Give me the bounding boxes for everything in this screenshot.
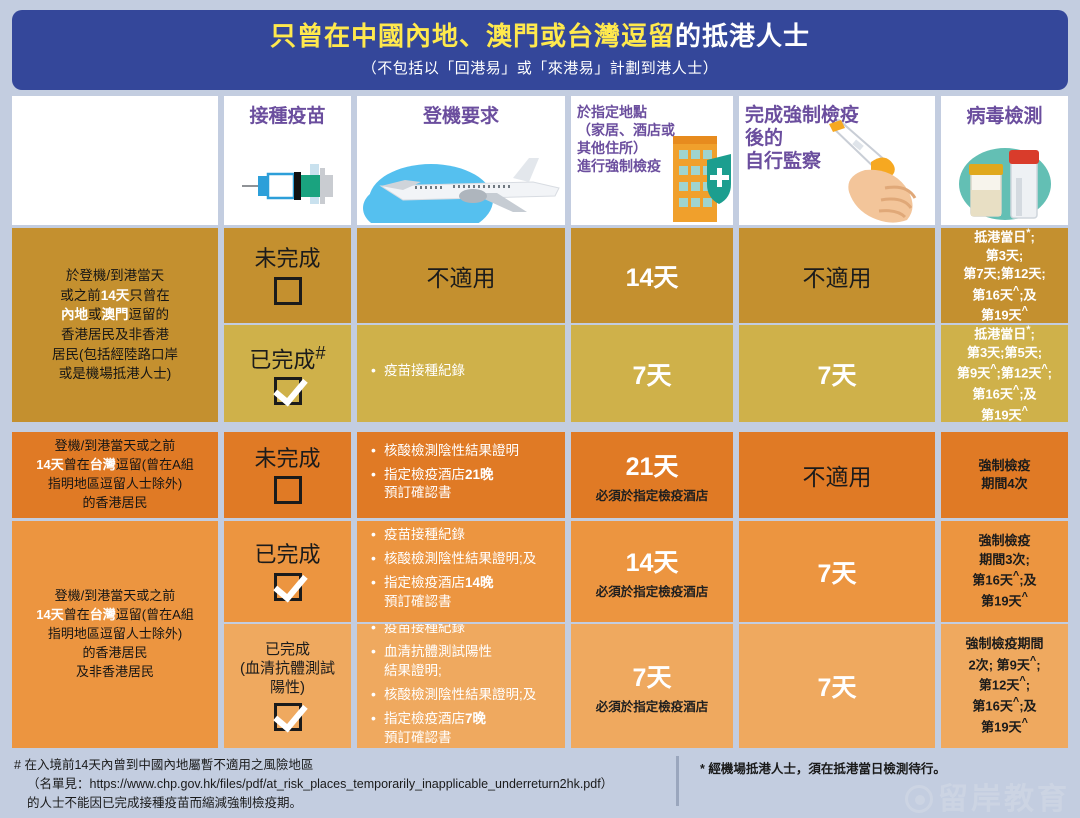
test-cell-r5: 強制檢疫期間2次; 第9天^;第12天^;第16天^;及第19天^ [941, 624, 1068, 748]
selfmonitor-text-r2: 7天 [818, 356, 857, 392]
header-cell-boarding: 登機要求 [357, 96, 565, 225]
test-cell-r4: 強制檢疫期間3次;第16天^;及第19天^ [941, 521, 1068, 622]
vaccine-cell-r3: 未完成 [224, 432, 351, 518]
footnote-hash-line1: 在入境前14天內曾到中國內地屬暫不適用之風險地區 [24, 758, 313, 772]
infographic-page: 只曾在中國內地、澳門或台灣逗留的抵港人士 （不包括以「回港易」或「來港易」計劃到… [0, 0, 1080, 809]
boarding-cell-r1: 不適用 [357, 228, 565, 323]
quarantine-days-r3: 21天 [626, 447, 679, 483]
header-cell-vaccine: 接種疫苗 [224, 96, 351, 225]
test-cell-r2: 抵港當日*;第3天;第5天;第9天^;第12天^;第16天^;及第19天^ [941, 325, 1068, 422]
boarding-bullets-r2: 疫苗接種紀錄 [369, 362, 465, 386]
list-item: 疫苗接種紀錄 [371, 362, 465, 381]
page-title: 只曾在中國內地、澳門或台灣逗留的抵港人士 [270, 22, 810, 51]
selfmonitor-text-r1: 不適用 [803, 259, 872, 293]
selfmonitor-text-r3: 不適用 [803, 458, 872, 492]
header-cell-category [12, 96, 218, 225]
quarantine-cell-r5: 7天 必須於指定檢疫酒店 [571, 624, 733, 748]
list-item: 核酸檢測陰性結果證明 [371, 442, 519, 461]
header-label-vaccine: 接種疫苗 [224, 105, 351, 128]
header-cell-test: 病毒檢測 [941, 96, 1068, 225]
page-title-rest: 的抵港人士 [675, 21, 810, 51]
vaccine-cell-r5: 已完成(血清抗體測試陽性) [224, 624, 351, 748]
vaccine-status-r4: 已完成 [254, 542, 320, 567]
vaccine-cell-r2: 已完成# [224, 325, 351, 422]
boarding-cell-r5: 疫苗接種紀錄血清抗體測試陽性結果證明;核酸檢測陰性結果證明;及指定檢疫酒店7晚預… [357, 624, 565, 748]
category-cell-mainland-macao: 於登機/到港當天或之前14天只曾在內地或澳門逗留的香港居民及非香港居民(包括經陸… [12, 228, 218, 422]
list-item: 核酸檢測陰性結果證明;及 [371, 686, 536, 705]
page-title-highlight: 只曾在中國內地、澳門或台灣逗留 [270, 21, 675, 51]
quarantine-days-r4: 14天 [626, 543, 679, 579]
footnote-hash-line3: 的人士不能因已完成接種疫苗而縮減強制檢疫期。 [14, 794, 664, 813]
quarantine-cell-r3: 21天 必須於指定檢疫酒店 [571, 432, 733, 518]
boarding-bullets-r3: 核酸檢測陰性結果證明指定檢疫酒店21晚預訂確認書 [369, 442, 519, 509]
category-text-taiwan-2: 登機/到港當天或之前14天曾在台灣逗留(曾在A組指明地區逗留人士除外)的香港居民… [36, 587, 194, 681]
quarantine-cell-r1: 14天 [571, 228, 733, 323]
vaccine-cell-r4: 已完成 [224, 521, 351, 622]
list-item: 疫苗接種紀錄 [371, 526, 536, 545]
list-item: 指定檢疫酒店21晚預訂確認書 [371, 466, 519, 504]
quarantine-days-r1: 14天 [626, 258, 679, 294]
selfmonitor-cell-r3: 不適用 [739, 432, 935, 518]
boarding-bullets-r4: 疫苗接種紀錄核酸檢測陰性結果證明;及指定檢疫酒店14晚預訂確認書 [369, 526, 536, 617]
category-cell-taiwan-resident: 登機/到港當天或之前14天曾在台灣逗留(曾在A組指明地區逗留人士除外)的香港居民 [12, 432, 218, 518]
watermark: 留岸教育 [905, 774, 1070, 818]
list-item: 核酸檢測陰性結果證明;及 [371, 550, 536, 569]
category-cell-taiwan-all: 登機/到港當天或之前14天曾在台灣逗留(曾在A組指明地區逗留人士除外)的香港居民… [12, 521, 218, 748]
list-item: 血清抗體測試陽性結果證明; [371, 643, 536, 681]
footnote-divider [676, 756, 679, 806]
checkbox-unchecked-r3 [274, 476, 302, 504]
header-label-boarding: 登機要求 [357, 105, 565, 128]
page-subtitle: （不包括以「回港易」或「來港易」計劃到港人士） [362, 57, 719, 78]
footnote-hash-line2[interactable]: （名單見：https://www.chp.gov.hk/files/pdf/at… [14, 775, 664, 794]
selfmonitor-cell-r4: 7天 [739, 521, 935, 622]
boarding-text-r1: 不適用 [427, 259, 496, 293]
watermark-text: 留岸教育 [938, 783, 1070, 816]
test-schedule-r5: 強制檢疫期間2次; 第9天^;第12天^;第16天^;及第19天^ [965, 635, 1043, 737]
checkbox-unchecked-r1 [274, 277, 302, 305]
vaccine-status-r1: 未完成 [254, 246, 320, 271]
list-item: 指定檢疫酒店14晚預訂確認書 [371, 574, 536, 612]
specimen-bottles-icon [955, 138, 1055, 222]
selfmonitor-text-r5: 7天 [818, 668, 857, 704]
thermometer-hand-icon [825, 118, 935, 223]
checkbox-checked-r5 [274, 703, 302, 731]
quarantine-cell-r2: 7天 [571, 325, 733, 422]
footnote-star-marker: * [700, 762, 705, 776]
quarantine-note-r5: 必須於指定檢疫酒店 [596, 696, 709, 715]
selfmonitor-cell-r1: 不適用 [739, 228, 935, 323]
selfmonitor-text-r4: 7天 [818, 554, 857, 590]
boarding-cell-r2: 疫苗接種紀錄 [357, 325, 565, 422]
building-shield-icon [671, 132, 733, 224]
checkbox-checked-r2 [274, 377, 302, 405]
requirements-table: 接種疫苗 登機要求 [12, 96, 1068, 748]
category-text-taiwan-1: 登機/到港當天或之前14天曾在台灣逗留(曾在A組指明地區逗留人士除外)的香港居民 [36, 437, 194, 512]
test-schedule-r1: 抵港當日*;第3天;第7天;第12天;第16天^;及第19天^ [963, 228, 1045, 323]
vaccine-cell-r1: 未完成 [224, 228, 351, 323]
title-banner: 只曾在中國內地、澳門或台灣逗留的抵港人士 （不包括以「回港易」或「來港易」計劃到… [12, 10, 1068, 90]
header-label-test: 病毒檢測 [941, 105, 1068, 128]
vaccine-status-r2: 已完成# [249, 342, 325, 373]
footnote-hash: # 在入境前14天內曾到中國內地屬暫不適用之風險地區 （名單見：https://… [14, 756, 664, 813]
boarding-cell-r4: 疫苗接種紀錄核酸檢測陰性結果證明;及指定檢疫酒店14晚預訂確認書 [357, 521, 565, 622]
airplane-icon [363, 138, 563, 223]
syringe-icon [238, 154, 338, 214]
header-cell-selfmonitor: 完成強制檢疫 後的 自行監察 [739, 96, 935, 225]
quarantine-cell-r4: 14天 必須於指定檢疫酒店 [571, 521, 733, 622]
boarding-bullets-r5: 疫苗接種紀錄血清抗體測試陽性結果證明;核酸檢測陰性結果證明;及指定檢疫酒店7晚預… [369, 624, 536, 748]
test-schedule-r3: 強制檢疫期間4次 [978, 457, 1030, 494]
quarantine-days-r5: 7天 [633, 658, 672, 694]
vaccine-status-r3: 未完成 [254, 446, 320, 471]
quarantine-note-r4: 必須於指定檢疫酒店 [596, 581, 709, 600]
checkbox-checked-r4 [274, 573, 302, 601]
footnotes: # 在入境前14天內曾到中國內地屬暫不適用之風險地區 （名單見：https://… [0, 752, 1080, 809]
test-cell-r3: 強制檢疫期間4次 [941, 432, 1068, 518]
boarding-cell-r3: 核酸檢測陰性結果證明指定檢疫酒店21晚預訂確認書 [357, 432, 565, 518]
test-schedule-r4: 強制檢疫期間3次;第16天^;及第19天^ [972, 532, 1036, 610]
list-item: 疫苗接種紀錄 [371, 624, 536, 638]
selfmonitor-cell-r5: 7天 [739, 624, 935, 748]
header-cell-quarantine: 於指定地點 （家居、酒店或 其他住所） 進行強制檢疫 [571, 96, 733, 225]
list-item: 指定檢疫酒店7晚預訂確認書 [371, 710, 536, 748]
test-schedule-r2: 抵港當日*;第3天;第5天;第9天^;第12天^;第16天^;及第19天^ [957, 325, 1052, 422]
footnote-hash-marker: # [14, 758, 21, 772]
vaccine-status-r5: 已完成(血清抗體測試陽性) [240, 641, 335, 697]
quarantine-days-r2: 7天 [633, 356, 672, 392]
test-cell-r1: 抵港當日*;第3天;第7天;第12天;第16天^;及第19天^ [941, 228, 1068, 323]
category-text: 於登機/到港當天或之前14天只曾在內地或澳門逗留的香港居民及非香港居民(包括經陸… [52, 266, 178, 383]
selfmonitor-cell-r2: 7天 [739, 325, 935, 422]
quarantine-note-r3: 必須於指定檢疫酒店 [596, 485, 709, 504]
